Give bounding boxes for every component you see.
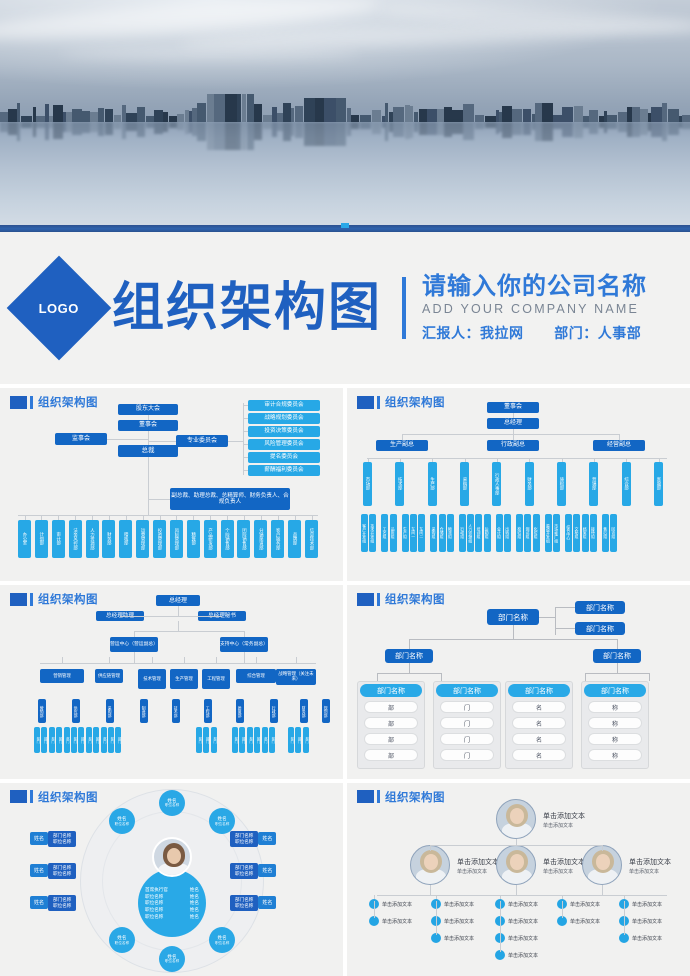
subdept-node: 客户开发组: [361, 514, 368, 552]
connector-line: [152, 657, 153, 663]
org-node: 审计合规委员会: [248, 400, 320, 411]
building: [502, 106, 512, 122]
dept-node: 计划部: [35, 520, 48, 558]
org-node: 战略管理（关注未来）: [276, 669, 316, 685]
building: [463, 104, 474, 122]
connector-line: [585, 673, 649, 674]
node-label: 单击添加文本: [632, 935, 662, 942]
building: [452, 110, 463, 122]
node-label: 单击添加文本: [632, 918, 662, 925]
level2-node: 部门名称: [593, 649, 641, 663]
connector-line: [178, 606, 179, 616]
connector-line: [513, 429, 514, 434]
building-reflection: [475, 122, 484, 129]
building-reflection: [668, 122, 679, 135]
building-reflection: [90, 122, 98, 132]
building-reflection: [291, 122, 294, 136]
connector-line: [244, 631, 245, 637]
building: [177, 114, 184, 122]
building-reflection: [327, 122, 336, 146]
node-label: 单击添加文本: [632, 901, 662, 908]
subdept-node: 综合中心: [565, 514, 572, 552]
building-reflection: [419, 122, 427, 135]
node-label: 单击添加文本: [444, 935, 474, 942]
building: [393, 107, 404, 122]
dept-column-cap: 部门名称: [360, 684, 422, 697]
connector-line: [555, 607, 575, 608]
heading-square-icon: [10, 396, 27, 409]
leaf-node: 部门: [232, 727, 238, 753]
heading-square-icon: [10, 593, 27, 606]
subdept-node: 车间二: [418, 514, 425, 552]
sub-node: 供应部: [72, 699, 80, 723]
org-node: 技术管理: [138, 669, 166, 689]
dept-node: 办公室: [18, 520, 31, 558]
building: [419, 109, 427, 122]
subdept-node: 后勤组: [484, 514, 491, 552]
building-reflection: [589, 122, 598, 134]
pill-dept: 部门名称职位名称: [230, 895, 258, 911]
connector-line: [178, 616, 222, 617]
org-node: 营运中心（营运副总）: [110, 637, 158, 652]
connector-line: [243, 405, 248, 406]
building: [254, 104, 262, 122]
logo-label: LOGO: [39, 301, 79, 316]
dept-node: 审计部: [52, 520, 65, 558]
building-reflection: [146, 122, 154, 128]
building: [114, 115, 121, 122]
building: [207, 94, 214, 122]
building-reflection: [53, 122, 63, 139]
building: [682, 115, 690, 122]
dept-node: 精算部: [187, 520, 200, 558]
heading-square-icon: [10, 790, 27, 803]
logo-diamond-icon: LOGO: [7, 256, 112, 361]
heading-bar-icon: [377, 593, 380, 606]
roster-row: 职位名称姓名: [145, 914, 199, 921]
building: [90, 112, 98, 122]
orbit-node-role: 职位名称: [115, 822, 129, 826]
connector-line: [134, 652, 135, 663]
dept-row: 名: [512, 717, 566, 729]
leaf-node: 部门: [247, 727, 253, 753]
panel-heading-text: 组织架构图: [38, 394, 98, 410]
person-label-main: 单击添加文本: [457, 857, 499, 867]
dept-row: 名: [512, 749, 566, 761]
building-reflection: [295, 122, 303, 138]
right-pill: 部门名称职位名称姓名: [230, 895, 276, 911]
dept-node: 分销渠道部: [254, 520, 267, 558]
dept-column-cap: 部门名称: [436, 684, 498, 697]
org-node: 综合管理: [236, 669, 276, 683]
connector-line: [134, 631, 135, 637]
org-node: 董事会: [118, 420, 178, 431]
node-label: 单击添加文本: [444, 918, 474, 925]
connector-line: [377, 673, 378, 681]
orbit-node-role: 职位名称: [215, 822, 229, 826]
building-reflection: [0, 122, 8, 132]
sub-node: 工程部: [204, 699, 212, 723]
building-reflection: [254, 122, 262, 140]
person-avatar: [496, 799, 536, 839]
building-reflection: [437, 122, 444, 135]
panel-heading-text: 组织架构图: [385, 591, 445, 607]
building: [427, 109, 437, 122]
building-reflection: [393, 122, 404, 137]
building: [437, 109, 444, 122]
subdept-node: 技术开发组: [369, 514, 376, 552]
sub-node: 采购部: [106, 699, 114, 723]
slide-thumb-6[interactable]: 组织架构图 单击添加文本单击添加文本单击添加文本单击添加文本单击添加文本单击添加…: [347, 783, 690, 976]
sub-node: 营销部: [38, 699, 46, 723]
connector-line: [619, 434, 620, 440]
connector-line: [184, 657, 185, 663]
orbit-node-role: 职位名称: [215, 941, 229, 945]
dept-row: 门: [440, 717, 494, 729]
building: [53, 105, 63, 122]
dept-node: 法务风控部: [69, 520, 82, 558]
building-reflection: [553, 122, 562, 129]
orbit-node-role: 职位名称: [165, 803, 179, 807]
building-reflection: [237, 122, 241, 150]
company-name-cn: 请输入你的公司名称: [422, 273, 647, 301]
building-reflection: [351, 122, 359, 129]
leaf-node: 部门: [295, 727, 301, 753]
slide-thumb-5[interactable]: 组织架构图 姓名职位名称姓名职位名称姓名职位名称姓名职位名称姓名职位名称姓名职位…: [0, 783, 343, 976]
connector-line: [243, 431, 248, 432]
building: [163, 112, 168, 122]
dept-node: 客服部: [654, 462, 663, 506]
dept-node: 人力资源部: [86, 520, 99, 558]
sub-node: 财务部: [300, 699, 308, 723]
subdept-node: 培训组: [475, 514, 482, 552]
presenter-meta: 汇报人：我拉网 部门：人事部: [422, 323, 647, 343]
connector-line: [256, 657, 257, 663]
pill-role-name: 职位名称: [53, 903, 71, 909]
subdept-node: 测试组: [524, 514, 531, 552]
node-label: 单击添加文本: [570, 918, 600, 925]
leaf-node: 部门: [93, 727, 99, 753]
heading-bar-icon: [30, 790, 33, 803]
subdept-node: 化验组: [533, 514, 540, 552]
dept-row: 称: [588, 733, 642, 745]
building: [607, 115, 617, 122]
leaf-node: 部门: [115, 727, 121, 753]
building: [351, 115, 359, 122]
orbit-node-role: 职位名称: [115, 941, 129, 945]
dept-node: 技术部: [395, 462, 404, 506]
connector-line: [513, 625, 514, 639]
org-node: 战略规划委员会: [248, 413, 320, 424]
connector-line: [602, 845, 603, 851]
person-avatar: [582, 845, 622, 885]
leaf-node: 部门: [269, 727, 275, 753]
connector-line: [244, 652, 245, 663]
building-reflection: [542, 122, 553, 141]
building: [385, 103, 388, 122]
dept-node: 信息技术部: [305, 520, 318, 558]
subdept-node: 出纳组: [504, 514, 511, 552]
connector-line: [555, 628, 575, 629]
slide-thumb-4[interactable]: 组织架构图 部门名称部门名称部门名称部门名称部门名称部门名称部部部部部门名称门门…: [347, 585, 690, 778]
building-reflection: [137, 122, 145, 137]
dept-node: 市场部: [363, 462, 372, 506]
center-avatar: [152, 837, 192, 877]
org-node: 经营副总: [593, 440, 645, 451]
subdept-node: 回访组: [610, 514, 617, 552]
building-reflection: [263, 122, 272, 129]
building-reflection: [8, 122, 17, 135]
building-reflection: [82, 122, 90, 133]
building: [137, 107, 145, 122]
slide-thumb-2[interactable]: 组织架构图 董事会总经理生产副总行政副总经营副总市场部技术部生产部采购部行政人事…: [347, 388, 690, 581]
org-node: 风险管理委员会: [248, 439, 320, 450]
building-reflection: [444, 122, 452, 137]
pill-role-name: 职位名称: [53, 839, 71, 845]
building-reflection: [98, 122, 104, 136]
pill-dept: 部门名称职位名称: [48, 895, 76, 911]
dept-column-cap: 部门名称: [584, 684, 646, 697]
building: [154, 110, 163, 122]
pill-role-name: 职位名称: [235, 871, 253, 877]
connector-line: [555, 607, 556, 635]
building-reflection: [177, 122, 184, 130]
heading-square-icon: [357, 790, 374, 803]
left-pill: 姓名部门名称职位名称: [30, 895, 76, 911]
pill-role-name: 职位名称: [53, 871, 71, 877]
org-node: 行政副总: [487, 440, 539, 451]
level2-node: 部门名称: [385, 649, 433, 663]
building-reflection: [651, 122, 662, 137]
panel-heading-text: 组织架构图: [38, 789, 98, 805]
connector-line: [243, 470, 248, 471]
leaf-node: 部门: [56, 727, 62, 753]
connector-line: [617, 663, 618, 673]
subdept-node: 文秘组: [573, 514, 580, 552]
page-title: 组织架构图: [112, 282, 382, 334]
center-roster: 首席执行官姓名职位名称姓名职位名称姓名职位名称姓名职位名称姓名: [145, 887, 199, 921]
panel-heading: 组织架构图: [10, 394, 98, 410]
dept-node: 综合部: [622, 462, 631, 506]
sub-node: 制造部: [140, 699, 148, 723]
left-pill: 姓名部门名称职位名称: [30, 831, 76, 847]
building: [668, 109, 679, 122]
building: [632, 107, 640, 122]
connector-line: [409, 663, 410, 673]
subdept-node: 售后组: [602, 514, 609, 552]
leaf-node: 部门: [203, 727, 209, 753]
reporter-label: 汇报人：我拉网: [422, 325, 524, 341]
node-label: 单击添加文本: [508, 935, 538, 942]
leaf-node: 部门: [64, 727, 70, 753]
building-reflection: [502, 122, 512, 138]
org-node: 工程管理: [202, 669, 230, 689]
connector-line: [602, 885, 603, 895]
connector-line: [243, 444, 248, 445]
dept-node: 团险销售部: [237, 520, 250, 558]
building: [360, 115, 371, 122]
building-reflection: [535, 122, 542, 141]
building: [444, 107, 452, 122]
dept-node: 财务部: [525, 462, 534, 506]
building: [336, 98, 346, 122]
subdept-node: 生产组: [402, 514, 409, 552]
building: [263, 115, 272, 122]
orbit-node-role: 职位名称: [165, 959, 179, 963]
building: [651, 107, 662, 122]
dept-row: 名: [512, 701, 566, 713]
dept-node: 稽核部: [119, 520, 132, 558]
pill-name: 姓名: [258, 896, 276, 909]
heading-bar-icon: [30, 396, 33, 409]
leaf-node: 部门: [78, 727, 84, 753]
leaf-node: 部门: [86, 727, 92, 753]
dept-row: 称: [588, 701, 642, 713]
building: [542, 103, 553, 122]
person-label: 单击添加文本单击添加文本: [629, 857, 671, 875]
connector-line: [516, 885, 517, 895]
subdept-node: 渠道开发组: [545, 514, 552, 552]
dept-row: 门: [440, 701, 494, 713]
person-label-sub: 单击添加文本: [543, 822, 585, 829]
connector-line: [539, 617, 555, 618]
building: [414, 112, 418, 122]
subdept-node: 市场推广组: [553, 514, 560, 552]
pill-dept-name: 部门名称: [235, 897, 253, 903]
dept-node: 投资管理部: [153, 520, 166, 558]
building: [410, 106, 413, 122]
dept-row: 门: [440, 749, 494, 761]
connector-line: [617, 639, 618, 649]
connector-line: [148, 510, 149, 515]
dept-node: 客户服务部: [271, 520, 284, 558]
connector-line: [409, 639, 410, 649]
panel-heading: 组织架构图: [10, 789, 98, 805]
building: [82, 111, 90, 122]
building-reflection: [360, 122, 371, 129]
building-reflection: [247, 122, 254, 150]
connector-line: [585, 673, 586, 681]
building-reflection: [452, 122, 463, 134]
connector-line: [296, 657, 297, 663]
leaf-node: 部门: [71, 727, 77, 753]
subdept-node: 人力资源组: [467, 514, 474, 552]
building-reflection: [662, 122, 667, 141]
building-reflection: [36, 122, 45, 128]
side-node: 部门名称: [575, 622, 625, 635]
subdept-node: 车间一: [410, 514, 417, 552]
building-reflection: [336, 122, 346, 146]
connector-line: [436, 901, 437, 935]
building: [574, 106, 583, 122]
heading-bar-icon: [377, 790, 380, 803]
building: [640, 109, 648, 122]
node-label: 单击添加文本: [508, 901, 538, 908]
connector-line: [374, 901, 375, 918]
title-divider: [402, 277, 406, 339]
connector-line: [430, 845, 602, 846]
org-node: 供应链管理: [95, 669, 123, 683]
subdept-node: 工艺组: [381, 514, 388, 552]
cloud-streak: [60, 48, 360, 60]
slide-thumb-3[interactable]: 组织架构图 总经理总经理助理总经理秘书营运中心（营运副总）支持中心（常务副总）营…: [0, 585, 343, 778]
connector-line: [148, 457, 149, 512]
roster-role: 职位名称: [145, 914, 163, 921]
sub-node: 规划部: [322, 699, 330, 723]
skyline-reflection: [0, 122, 690, 152]
building-reflection: [485, 122, 496, 128]
orbit-node: 姓名职位名称: [109, 808, 135, 834]
connector-line: [228, 441, 243, 442]
org-node: 总裁: [118, 445, 178, 457]
leaf-node: 部门: [196, 727, 202, 753]
building-reflection: [414, 122, 418, 132]
building-reflection: [105, 122, 113, 135]
org-node: 生产管理: [170, 669, 198, 689]
building: [304, 98, 315, 122]
connector-line: [216, 657, 217, 663]
connector-line: [148, 499, 170, 500]
pill-dept: 部门名称职位名称: [230, 831, 258, 847]
dept-node: 生产部: [428, 462, 437, 506]
slide-preview-page: LOGO 组织架构图 请输入你的公司名称 ADD YOUR COMPANY NA…: [0, 0, 690, 976]
connector-line: [624, 901, 625, 935]
connector-line: [409, 639, 617, 640]
panel-heading-text: 组织架构图: [385, 394, 445, 410]
building-reflection: [163, 122, 168, 132]
connector-line: [367, 458, 667, 459]
pill-name: 姓名: [30, 832, 48, 845]
root-node: 部门名称: [487, 609, 539, 625]
leaf-node: 部门: [211, 727, 217, 753]
subdept-node: 接待组: [590, 514, 597, 552]
connector-line: [40, 663, 316, 664]
sub-node: 质量部: [236, 699, 244, 723]
org-node: 专业委员会: [176, 435, 228, 447]
pill-dept: 部门名称职位名称: [230, 863, 258, 879]
org-node: 总经理: [487, 418, 539, 429]
node-label: 单击添加文本: [508, 918, 538, 925]
sub-node: 行政部: [270, 699, 278, 723]
leaf-node: 部门: [108, 727, 114, 753]
logo: LOGO: [0, 271, 118, 345]
department-label: 部门：人事部: [554, 325, 641, 341]
person-avatar: [496, 845, 536, 885]
orbit-node: 姓名职位名称: [159, 790, 185, 816]
connector-line: [18, 515, 318, 516]
building: [562, 107, 573, 122]
panel-heading-text: 组织架构图: [38, 591, 98, 607]
dept-row: 部: [364, 717, 418, 729]
subdept-node: 检验组: [516, 514, 523, 552]
building: [589, 110, 598, 122]
subdept-node: 采购组: [430, 514, 437, 552]
subdept-node: 行政组: [459, 514, 466, 552]
building-reflection: [72, 122, 82, 135]
connector-line: [377, 673, 441, 674]
dept-row: 门: [440, 733, 494, 745]
heading-bar-icon: [30, 593, 33, 606]
building: [283, 103, 291, 122]
building: [237, 94, 241, 122]
building-reflection: [618, 122, 627, 132]
pill-name: 姓名: [30, 896, 48, 909]
building-reflection: [512, 122, 522, 135]
connector-line: [243, 457, 248, 458]
building: [247, 94, 254, 122]
building: [535, 103, 542, 122]
slide-thumb-1[interactable]: 组织架构图 股东大会董事会总裁监事会专业委员会审计合规委员会战略规划委员会投资决…: [0, 388, 343, 581]
